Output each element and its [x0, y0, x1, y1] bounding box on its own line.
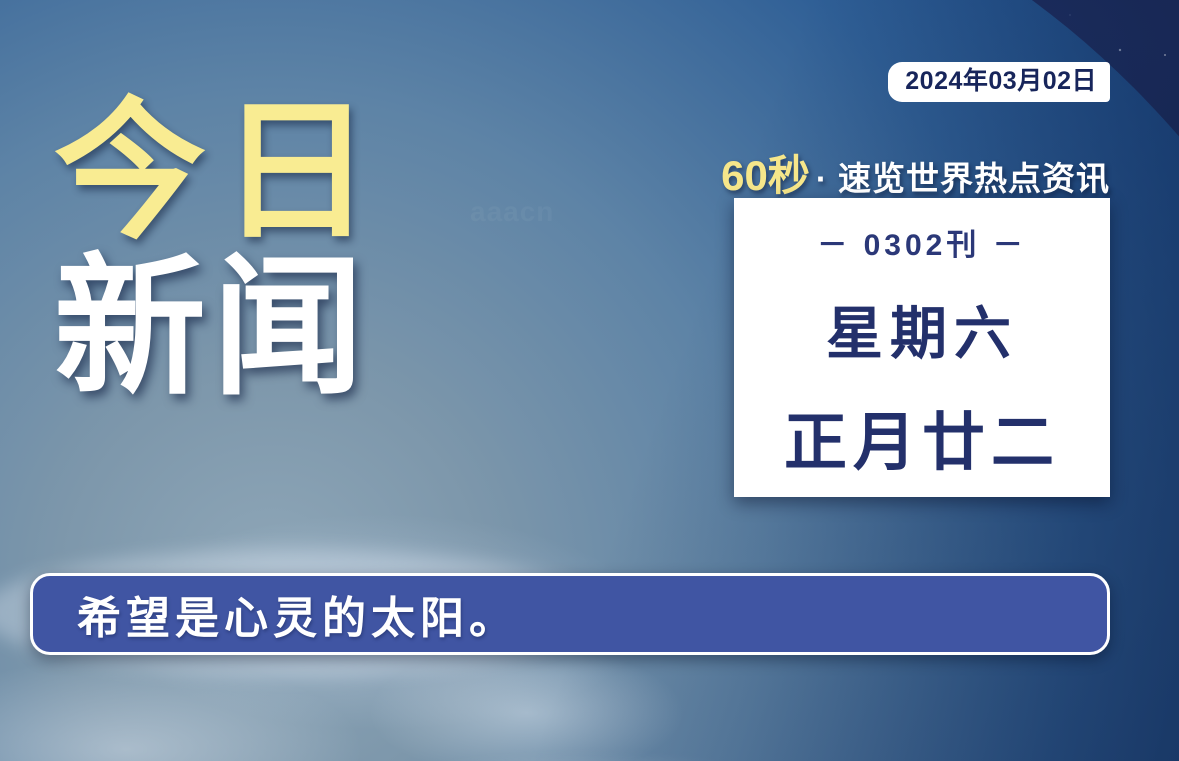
- quote-bar: 希望是心灵的太阳。: [30, 573, 1110, 655]
- weekday: 星期六: [826, 288, 1018, 370]
- news-poster: aaacn 今日 新闻 2024年03月02日 60秒 · 速览世界热点资讯 －…: [0, 0, 1179, 761]
- title-line-today: 今日: [54, 96, 386, 248]
- info-card: － 0302刊 － 星期六 正月廿二: [734, 198, 1110, 497]
- tagline: 60秒 · 速览世界热点资讯: [721, 142, 1110, 203]
- issue-number: － 0302刊 －: [817, 220, 1026, 264]
- lunar-date: 正月廿二: [784, 392, 1060, 483]
- date-badge: 2024年03月02日: [888, 62, 1110, 102]
- tagline-rest: · 速览世界热点资讯: [816, 152, 1110, 200]
- title-line-news: 新闻: [54, 252, 386, 404]
- tagline-highlight: 60秒: [721, 142, 810, 203]
- poster-title: 今日 新闻: [54, 96, 386, 404]
- watermark-text: aaacn: [470, 196, 554, 228]
- quote-text: 希望是心灵的太阳。: [33, 582, 518, 646]
